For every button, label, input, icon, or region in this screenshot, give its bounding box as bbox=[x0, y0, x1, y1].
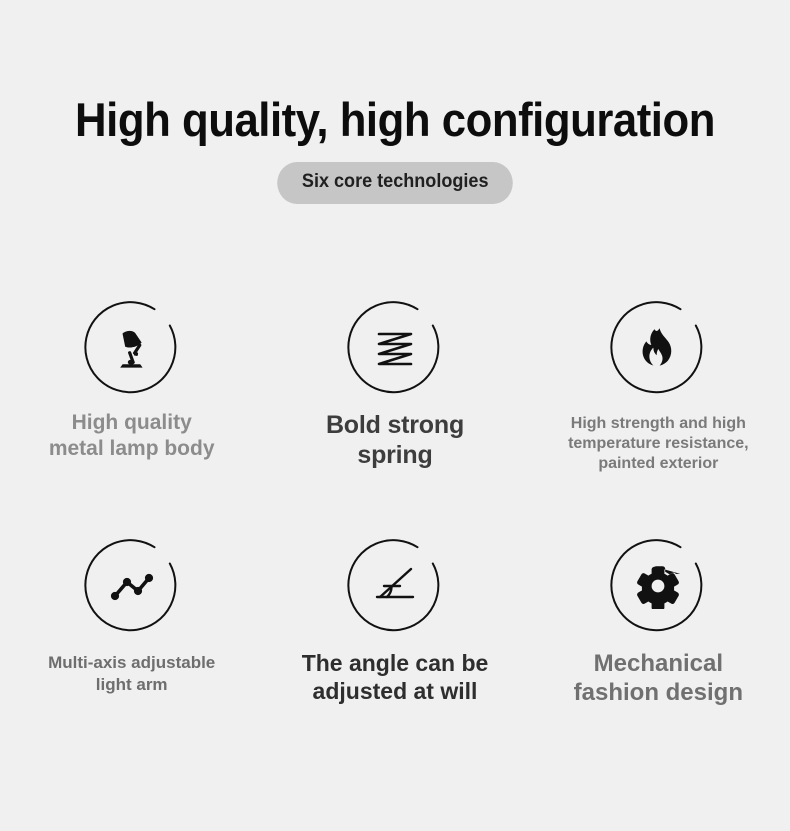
feature-item-metal-lamp-body: High quality metal lamp body bbox=[0, 300, 263, 474]
feature-item-multi-axis-light-arm: Multi-axis adjustable light arm bbox=[0, 538, 263, 707]
icon-ring bbox=[84, 538, 180, 634]
flame-icon bbox=[632, 322, 684, 374]
feature-label: The angle can be adjusted at will bbox=[302, 649, 489, 705]
gear-icon bbox=[632, 560, 684, 612]
angle-protractor-icon bbox=[369, 560, 421, 612]
multi-joint-arm-icon bbox=[106, 560, 158, 612]
icon-ring bbox=[347, 300, 443, 396]
desk-lamp-icon bbox=[106, 322, 158, 374]
six-core-technologies-badge: Six core technologies bbox=[277, 162, 513, 204]
feature-grid: High quality metal lamp body Bold strong… bbox=[0, 300, 790, 707]
feature-item-bold-strong-spring: Bold strong spring bbox=[263, 300, 526, 474]
feature-item-angle-adjustable: The angle can be adjusted at will bbox=[263, 538, 526, 707]
feature-label: Bold strong spring bbox=[326, 410, 464, 470]
icon-ring bbox=[610, 538, 706, 634]
feature-item-mechanical-fashion-design: Mechanical fashion design bbox=[527, 538, 790, 707]
feature-label: Multi-axis adjustable light arm bbox=[48, 652, 215, 696]
feature-item-high-temperature-resistance: High strength and high temperature resis… bbox=[527, 300, 790, 474]
badge-row: Six core technologies bbox=[0, 162, 790, 204]
icon-ring bbox=[610, 300, 706, 396]
feature-label: High strength and high temperature resis… bbox=[568, 414, 749, 474]
feature-highlights-page: High quality, high configuration Six cor… bbox=[0, 0, 790, 831]
icon-ring bbox=[84, 300, 180, 396]
icon-ring bbox=[347, 538, 443, 634]
page-title: High quality, high configuration bbox=[28, 92, 763, 148]
feature-label: Mechanical fashion design bbox=[574, 649, 743, 707]
page-header: High quality, high configuration Six cor… bbox=[0, 92, 790, 204]
spring-zigzag-icon bbox=[369, 322, 421, 374]
feature-label: High quality metal lamp body bbox=[49, 410, 215, 462]
